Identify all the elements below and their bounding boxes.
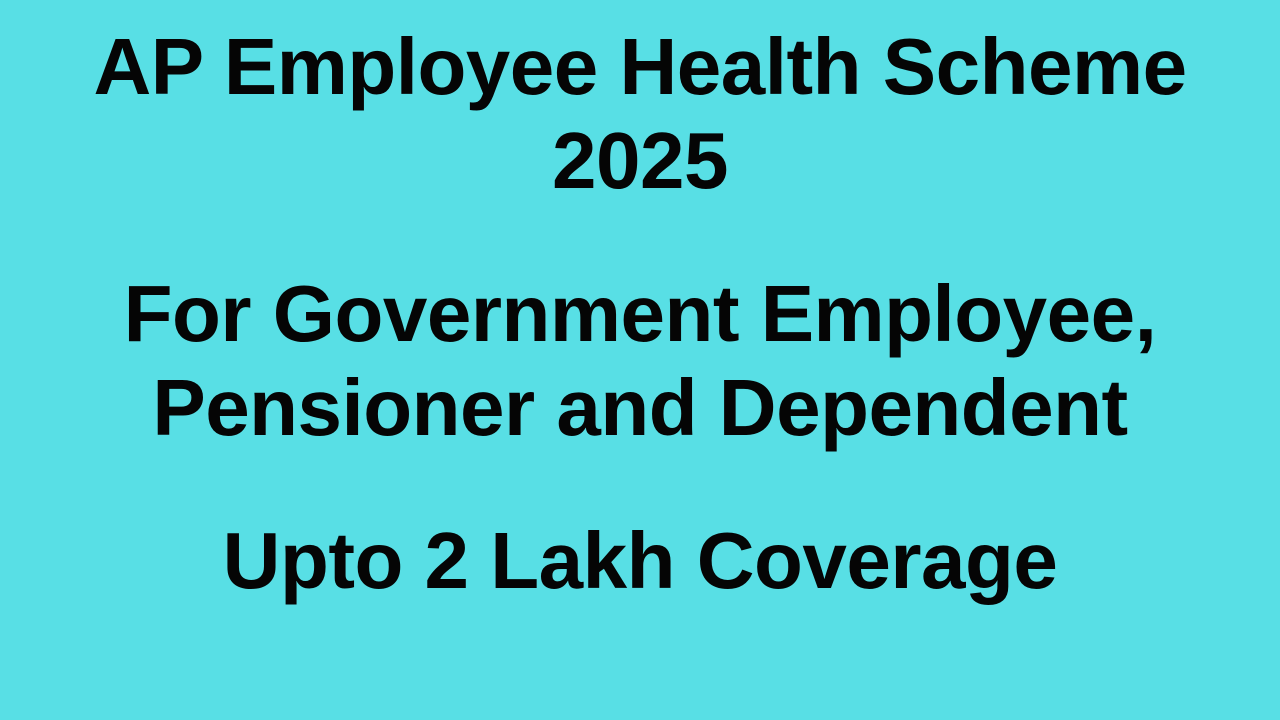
audience-block: For Government Employee, Pensioner and D… [0,267,1280,455]
promo-banner: AP Employee Health Scheme 2025 For Gover… [0,0,1280,720]
eligibility-text: For Government Employee, Pensioner and D… [0,267,1280,455]
coverage-block: Upto 2 Lakh Coverage [0,514,1280,608]
coverage-amount-text: Upto 2 Lakh Coverage [0,514,1280,608]
page-title: AP Employee Health Scheme 2025 [0,20,1280,208]
title-block: AP Employee Health Scheme 2025 [0,20,1280,208]
